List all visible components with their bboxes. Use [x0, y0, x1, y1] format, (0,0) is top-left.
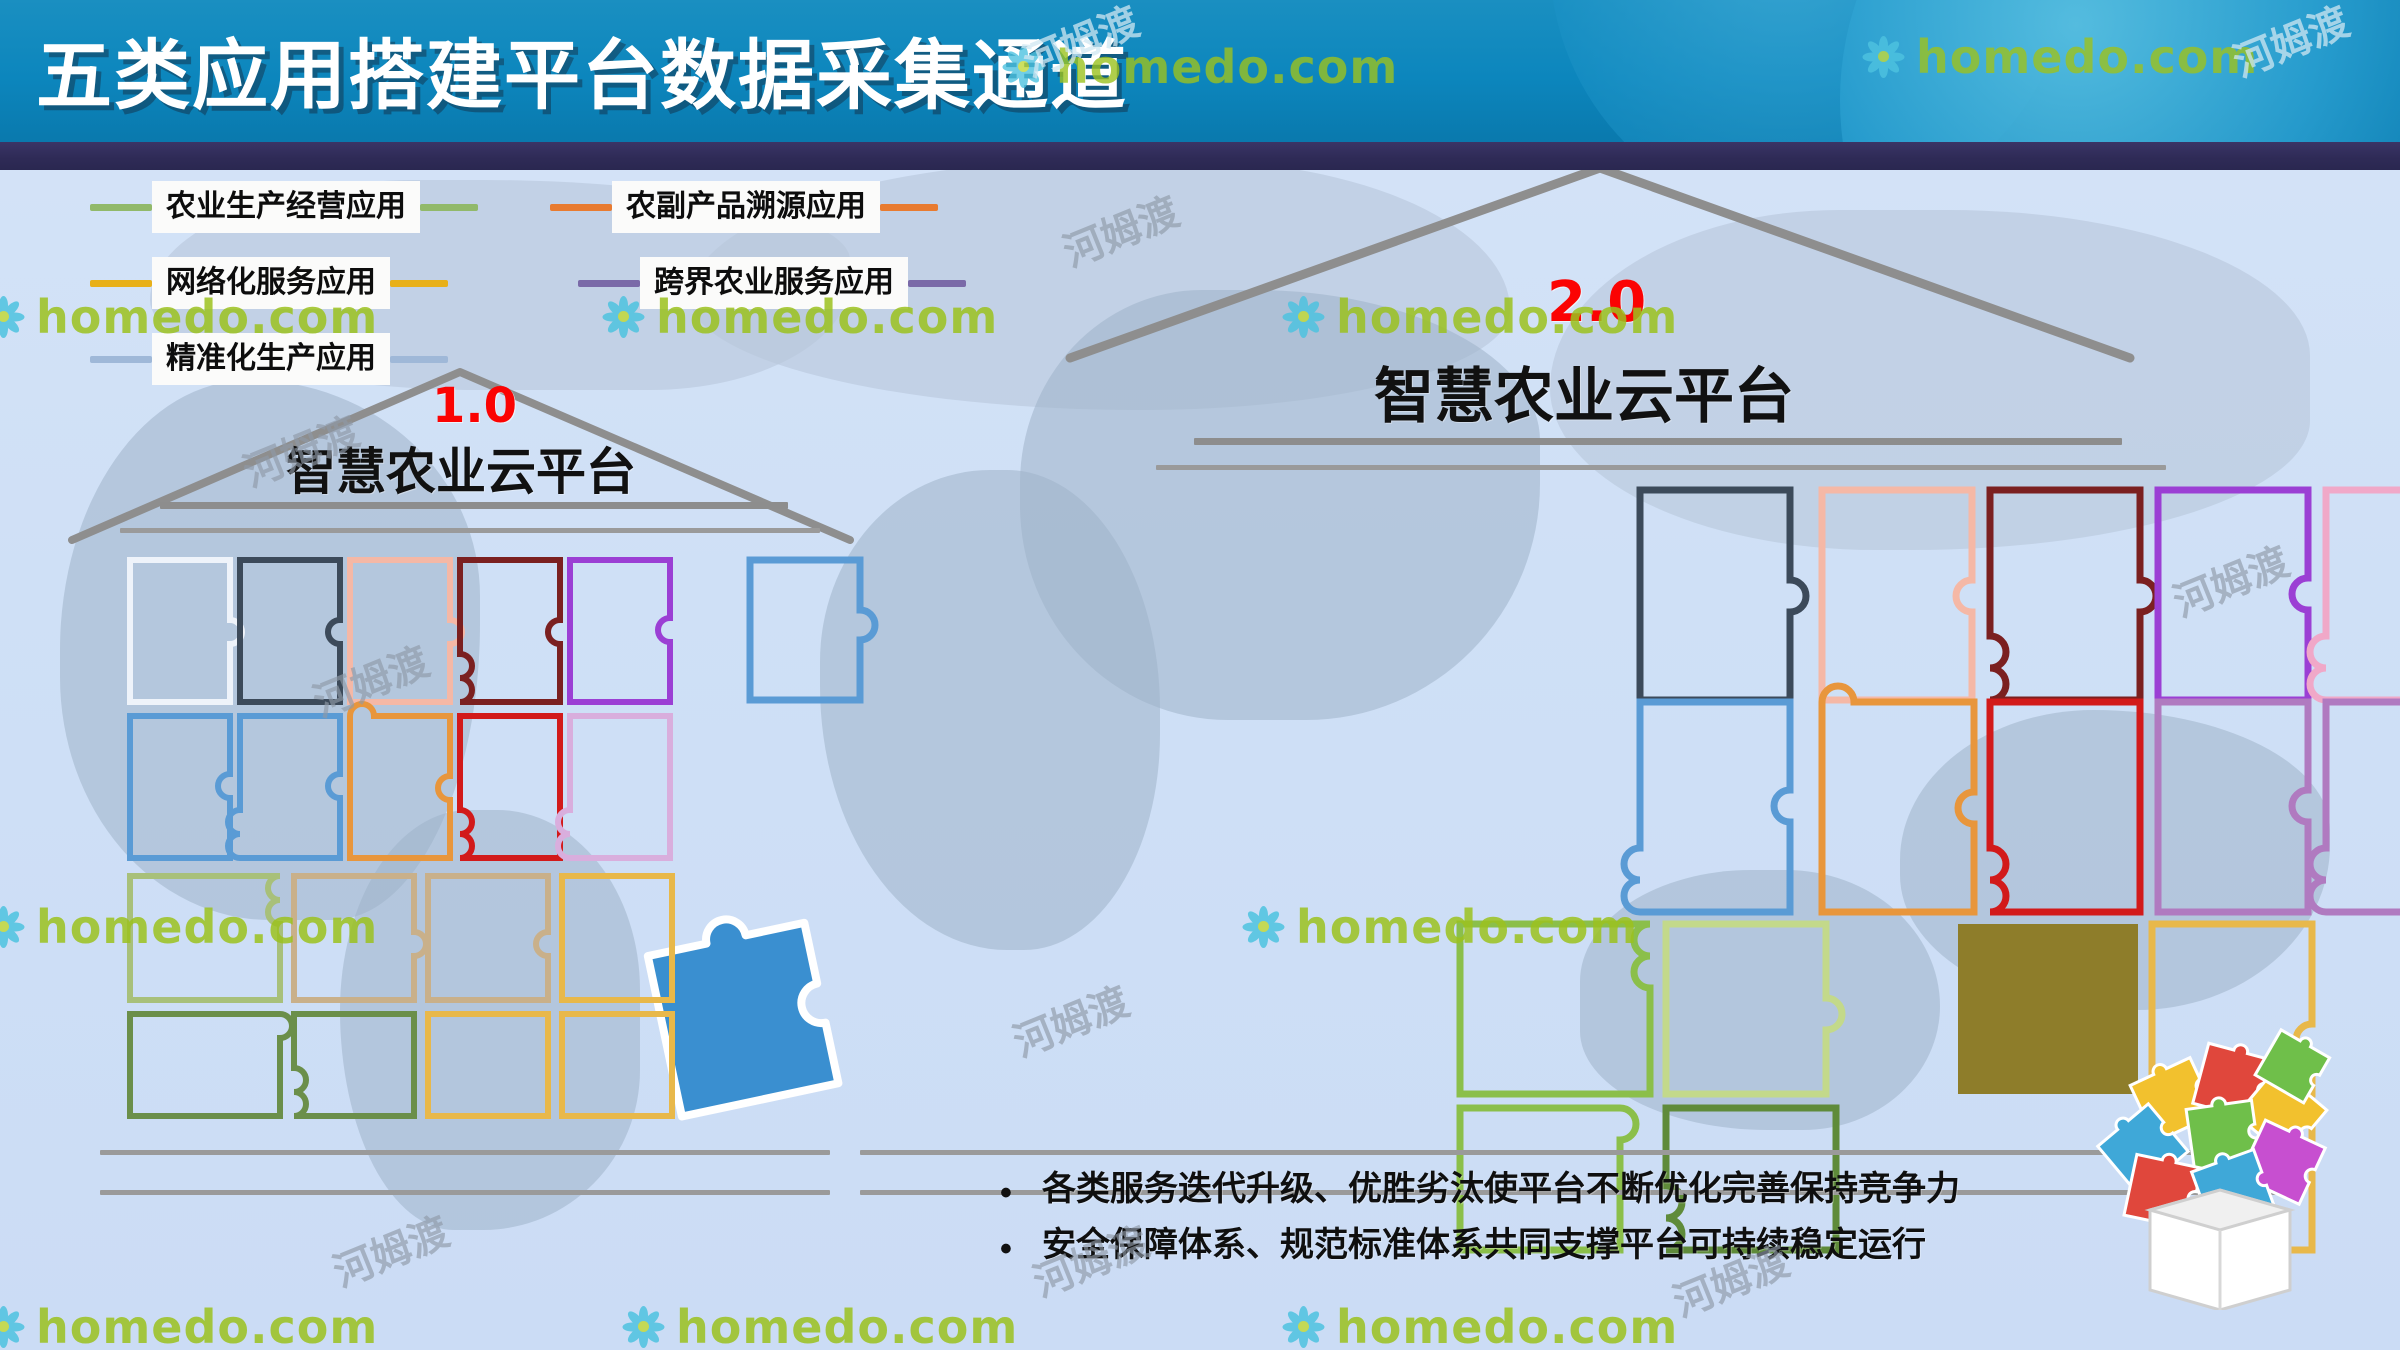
bullet-dot: •: [1000, 1170, 1042, 1210]
platform-title-v2: 智慧农业云平台: [1374, 348, 1794, 435]
flower-icon: [0, 904, 26, 950]
shelf-bottom2-v1: [100, 1190, 830, 1195]
legend-line-right: [390, 280, 448, 287]
shelf-top-v1: [160, 502, 788, 509]
version-label-v2: 2.0: [1547, 270, 1646, 335]
platform-house-v1: 1.0 智慧农业云平台: [60, 350, 860, 1210]
globe-decoration: [1840, 0, 2400, 142]
puzzle-grid-v2: [1080, 480, 2340, 1040]
legend-label: 跨界农业服务应用: [640, 257, 908, 309]
legend-item-agri-production[interactable]: 农业生产经营应用: [90, 181, 478, 233]
legend-row: 农业生产经营应用 农副产品溯源应用: [90, 178, 990, 236]
legend-item-traceability[interactable]: 农副产品溯源应用: [550, 181, 938, 233]
shelf-bottom-v1: [100, 1150, 830, 1155]
legend-line-left: [578, 280, 640, 287]
legend-label: 农业生产经营应用: [152, 181, 420, 233]
legend-line-left: [90, 280, 152, 287]
watermark-text: homedo.com: [676, 1300, 1018, 1350]
watermark-logo: homedo.com: [0, 1300, 378, 1350]
legend-item-crossborder[interactable]: 跨界农业服务应用: [578, 257, 966, 309]
watermark-text: homedo.com: [1336, 1300, 1678, 1350]
bullet-text: 安全保障体系、规范标准体系共同支撑平台可持续稳定运行: [1042, 1226, 1926, 1265]
flower-icon: [620, 1304, 666, 1350]
confetti-box-icon: [2070, 1010, 2370, 1310]
version-label-v1: 1.0: [432, 378, 517, 434]
flower-icon: [0, 1304, 26, 1350]
platform-title-v1: 智慧农业云平台: [286, 432, 636, 504]
shelf-top2-v2: [1156, 465, 2166, 470]
shelf-top-v2: [1194, 438, 2122, 445]
legend-line-left: [550, 204, 612, 211]
legend-label: 农副产品溯源应用: [612, 181, 880, 233]
legend-item-network-service[interactable]: 网络化服务应用: [90, 257, 448, 309]
legend-label: 网络化服务应用: [152, 257, 390, 309]
bullet-dot: •: [1000, 1226, 1042, 1266]
roof-v2: [1050, 170, 2350, 370]
flower-icon: [1280, 1304, 1326, 1350]
header-accent-band: [0, 142, 2400, 170]
watermark-text: homedo.com: [36, 1300, 378, 1350]
legend-row: 网络化服务应用 跨界农业服务应用: [90, 254, 990, 312]
puzzle-grid-v1: [78, 546, 878, 1066]
shelf-bottom-v2: [860, 1150, 2280, 1155]
slide-body: 农业生产经营应用 农副产品溯源应用 网络化服务应用: [0, 170, 2400, 1350]
shelf-top2-v1: [120, 528, 820, 533]
platform-house-v2: 2.0 智慧农业云平台: [1050, 170, 2350, 1090]
page-title: 五类应用搭建平台数据采集通道: [36, 14, 1128, 124]
flower-icon: [0, 294, 26, 340]
slide-root: 五类应用搭建平台数据采集通道 农业生产经营应用 农副产: [0, 0, 2400, 1350]
watermark-logo: homedo.com: [620, 1300, 1018, 1350]
bullet-text: 各类服务迭代升级、优胜劣汰使平台不断优化完善保持竞争力: [1042, 1170, 1960, 1209]
legend-line-right: [420, 204, 478, 211]
legend-line-right: [880, 204, 938, 211]
watermark-logo: homedo.com: [1280, 1300, 1678, 1350]
legend-line-left: [90, 204, 152, 211]
legend-line-right: [908, 280, 966, 287]
